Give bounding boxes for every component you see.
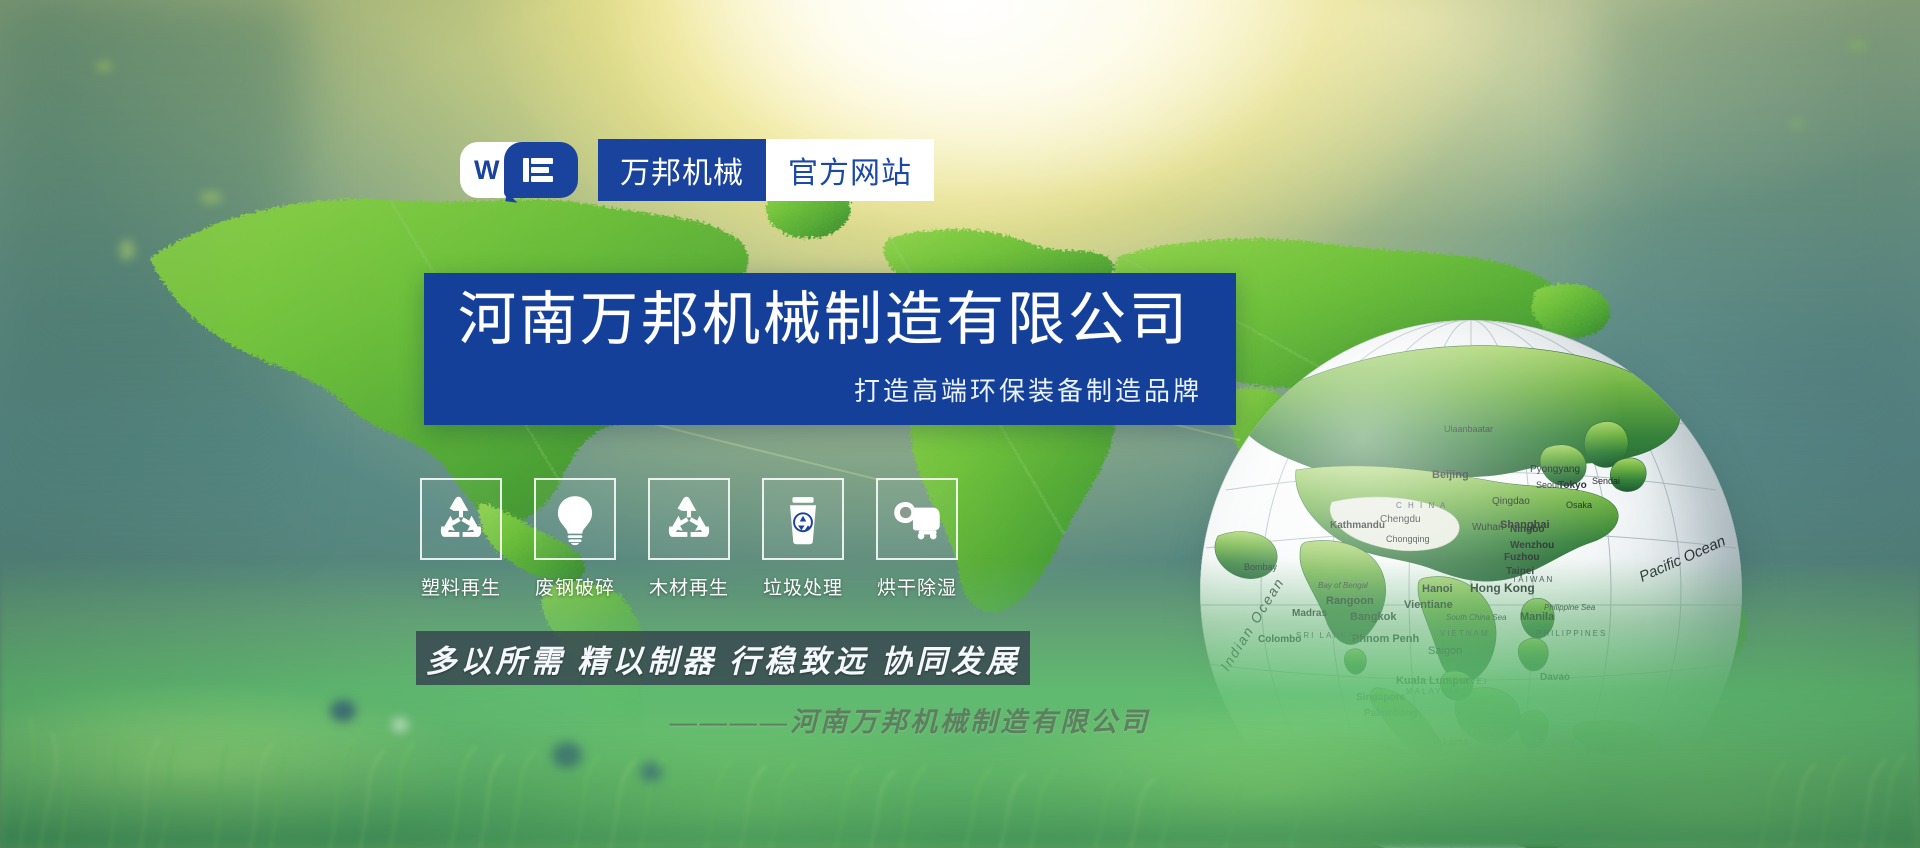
feature-label: 烘干除湿 bbox=[876, 573, 958, 600]
feature-label: 废钢破碎 bbox=[534, 573, 616, 600]
company-subtitle: 打造高端环保装备制造品牌 bbox=[424, 371, 1236, 408]
grass-bokeh bbox=[552, 742, 582, 768]
leaf-speck bbox=[1790, 120, 1804, 128]
brand-logo[interactable]: W bbox=[460, 140, 578, 200]
svg-text:Ningbo: Ningbo bbox=[1510, 524, 1544, 535]
feature-wood-recycling[interactable]: 木材再生 bbox=[648, 478, 730, 600]
feature-scrap-steel-crushing[interactable]: 废钢破碎 bbox=[534, 478, 616, 600]
leaf-speck bbox=[200, 192, 222, 203]
feature-plastic-recycling[interactable]: 塑料再生 bbox=[420, 478, 502, 600]
feature-waste-treatment[interactable]: 垃圾处理 bbox=[762, 478, 844, 600]
svg-text:C H I N A: C H I N A bbox=[1396, 501, 1447, 510]
grass-shadow bbox=[0, 728, 1920, 848]
leaf-speck bbox=[1848, 40, 1866, 50]
site-logo-bar: W 万邦机械 官方网站 bbox=[460, 139, 934, 201]
hero-banner: Beijing Shanghai Hong Kong Taipei Tokyo … bbox=[0, 0, 1920, 848]
logo-bubble-tail bbox=[505, 191, 518, 203]
feature-icon-row: 塑料再生 废钢破碎 bbox=[420, 478, 958, 600]
slogan-signature: ————河南万邦机械制造有限公司 bbox=[670, 700, 1190, 739]
logo-letter-b-icon bbox=[520, 155, 556, 185]
feature-icon-box bbox=[876, 478, 958, 560]
svg-text:Seoul: Seoul bbox=[1536, 480, 1559, 490]
svg-text:Tokyo: Tokyo bbox=[1558, 480, 1587, 491]
svg-text:Osaka: Osaka bbox=[1566, 500, 1592, 510]
feature-icon-box bbox=[534, 478, 616, 560]
tab-official-site[interactable]: 官方网站 bbox=[766, 139, 934, 201]
feature-icon-box bbox=[420, 478, 502, 560]
svg-text:Pyongyang: Pyongyang bbox=[1530, 464, 1580, 475]
trashcan-icon bbox=[777, 493, 829, 545]
svg-text:Sendai: Sendai bbox=[1592, 476, 1620, 486]
feature-label: 塑料再生 bbox=[420, 573, 502, 600]
svg-text:Qingdao: Qingdao bbox=[1492, 496, 1530, 507]
feature-label: 垃圾处理 bbox=[762, 573, 844, 600]
recycle-icon bbox=[663, 493, 715, 545]
svg-text:Wuhan: Wuhan bbox=[1472, 522, 1504, 533]
feature-icon-box bbox=[762, 478, 844, 560]
grass-bokeh bbox=[640, 762, 662, 782]
svg-text:Beijing: Beijing bbox=[1432, 469, 1469, 481]
slogan-text: 多以所需 精以制器 行稳致远 协同发展 bbox=[425, 636, 1020, 681]
recycle-icon bbox=[435, 493, 487, 545]
feature-label: 木材再生 bbox=[648, 573, 730, 600]
site-tabs: 万邦机械 官方网站 bbox=[598, 139, 934, 201]
leaf-speck bbox=[96, 62, 112, 71]
svg-text:Kathmandu: Kathmandu bbox=[1330, 520, 1385, 531]
grass-bokeh bbox=[330, 700, 356, 722]
dryer-icon bbox=[891, 493, 943, 545]
svg-text:Chongqing: Chongqing bbox=[1386, 534, 1430, 544]
feature-drying-dehumidifying[interactable]: 烘干除湿 bbox=[876, 478, 958, 600]
feature-icon-box bbox=[648, 478, 730, 560]
logo-letter-w-icon: W bbox=[474, 156, 508, 184]
grass-bokeh bbox=[392, 718, 408, 732]
svg-text:Ulaanbaatar: Ulaanbaatar bbox=[1444, 424, 1493, 434]
lightbulb-icon bbox=[549, 493, 601, 545]
company-title: 河南万邦机械制造有限公司 bbox=[424, 291, 1236, 349]
svg-text:Chengdu: Chengdu bbox=[1380, 514, 1421, 525]
company-banner: 河南万邦机械制造有限公司 打造高端环保装备制造品牌 bbox=[424, 273, 1236, 425]
slogan-bar: 多以所需 精以制器 行稳致远 协同发展 bbox=[416, 631, 1030, 685]
tab-brand-name[interactable]: 万邦机械 bbox=[598, 139, 766, 201]
leaf-speck bbox=[120, 240, 134, 260]
